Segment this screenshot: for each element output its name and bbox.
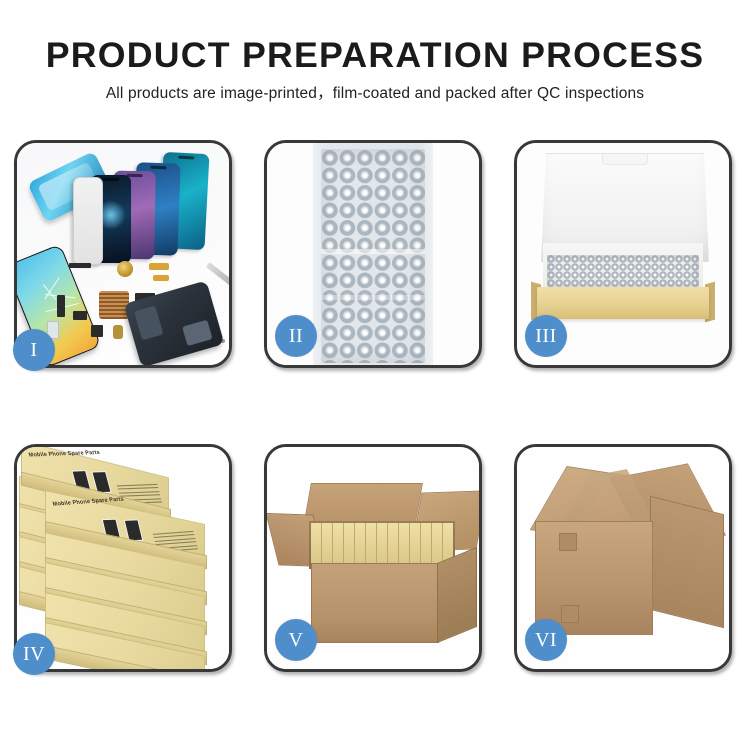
panel-step-5[interactable]: V xyxy=(264,444,482,672)
page-subtitle: All products are image-printed，film-coat… xyxy=(0,73,750,102)
sealed-carton-front xyxy=(535,521,653,635)
carton-label-tab-top xyxy=(559,533,577,551)
box-lid-tab xyxy=(602,154,648,165)
step-badge-2: II xyxy=(275,315,317,357)
wrap-seam-2 xyxy=(321,295,425,300)
battery-connector-part xyxy=(113,325,123,339)
step-badge-6: VI xyxy=(525,619,567,661)
carton-label-tab-bottom xyxy=(561,605,579,623)
step-badge-4: IV xyxy=(13,633,55,675)
flex-cable-b xyxy=(153,275,169,281)
speaker-coil-part xyxy=(117,261,133,277)
carton-side-panel xyxy=(437,547,477,643)
bubble-wrapped-contents xyxy=(547,255,699,289)
connector-part xyxy=(69,263,91,268)
copper-mesh-part xyxy=(99,291,129,319)
box-label-text: Mobile Phone Spare Parts xyxy=(28,450,101,459)
panel-step-2[interactable]: II xyxy=(264,140,482,368)
infographic-page: PRODUCT PREPARATION PROCESS All products… xyxy=(0,0,750,750)
panel-4-image: Mobile Phone Spare Parts Mobile Phon xyxy=(17,447,229,669)
box-stack: Mobile Phone Spare Parts Mobile Phon xyxy=(17,451,229,667)
flex-cable-a xyxy=(149,263,169,270)
kraft-boxes-inside xyxy=(311,523,453,567)
process-grid: I II III xyxy=(14,140,736,672)
step-badge-5: V xyxy=(275,619,317,661)
tweezers-tool xyxy=(206,262,229,294)
bubble-highlights xyxy=(321,149,425,363)
panel-step-1[interactable]: I xyxy=(14,140,232,368)
carton-front-panel xyxy=(311,563,439,643)
panel-1-image xyxy=(17,143,229,365)
tempered-glass-sheet xyxy=(73,177,103,265)
step-badge-1: I xyxy=(13,329,55,371)
panel-step-4[interactable]: Mobile Phone Spare Parts Mobile Phon xyxy=(14,444,232,672)
panel-step-3[interactable]: III xyxy=(514,140,732,368)
sealed-carton-side xyxy=(650,496,724,628)
side-button-part xyxy=(57,295,65,317)
phone-fan-group xyxy=(69,151,229,263)
speaker-part xyxy=(91,325,103,337)
step-badge-3: III xyxy=(525,315,567,357)
wrap-seam-1 xyxy=(321,249,425,254)
panel-step-6[interactable]: VI xyxy=(514,444,732,672)
box-front-panel xyxy=(537,287,709,319)
box-label-text-2: Mobile Phone Spare Parts xyxy=(52,496,125,507)
page-title: PRODUCT PREPARATION PROCESS xyxy=(0,0,750,73)
header: PRODUCT PREPARATION PROCESS All products… xyxy=(0,0,750,102)
vibrator-part xyxy=(73,311,87,320)
